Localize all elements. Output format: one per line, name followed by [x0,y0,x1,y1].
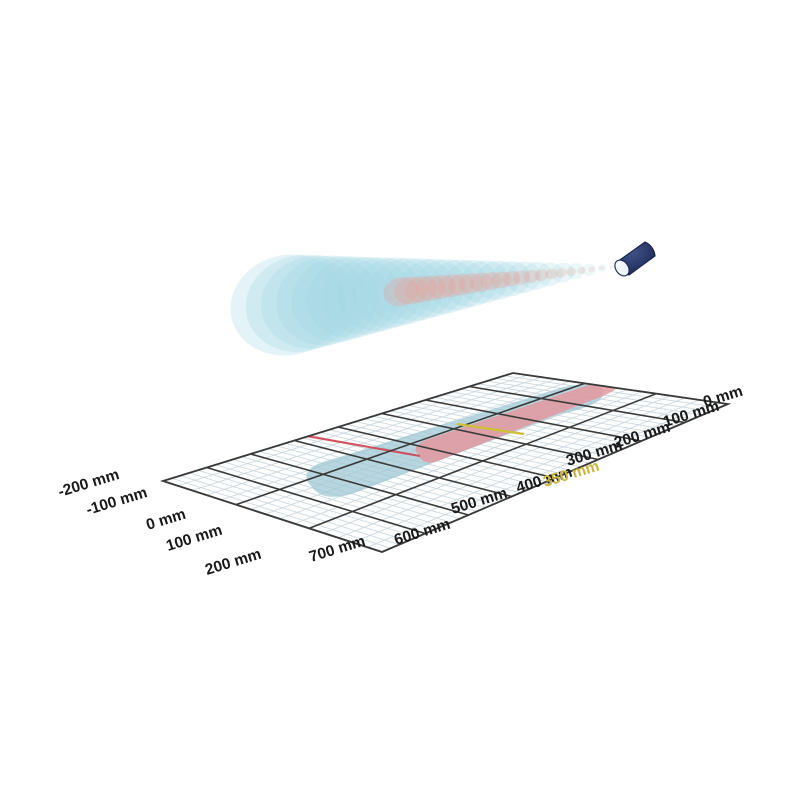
outer-beam-lobe [220,242,618,367]
axis-tick-left-200: 200 mm [203,546,263,579]
axis-tick-left-0: 0 mm [144,506,188,534]
figure-canvas: -200 mm -100 mm 0 mm 100 mm 200 mm 700 m… [0,0,800,800]
beam-cone [220,242,618,367]
axis-tick-left-100: 100 mm [164,522,224,555]
beam-diagram-svg: -200 mm -100 mm 0 mm 100 mm 200 mm 700 m… [0,0,800,800]
beam-axis-line [0,382,420,456]
transducer-probe[interactable] [612,242,655,279]
ground-plane [0,373,728,552]
